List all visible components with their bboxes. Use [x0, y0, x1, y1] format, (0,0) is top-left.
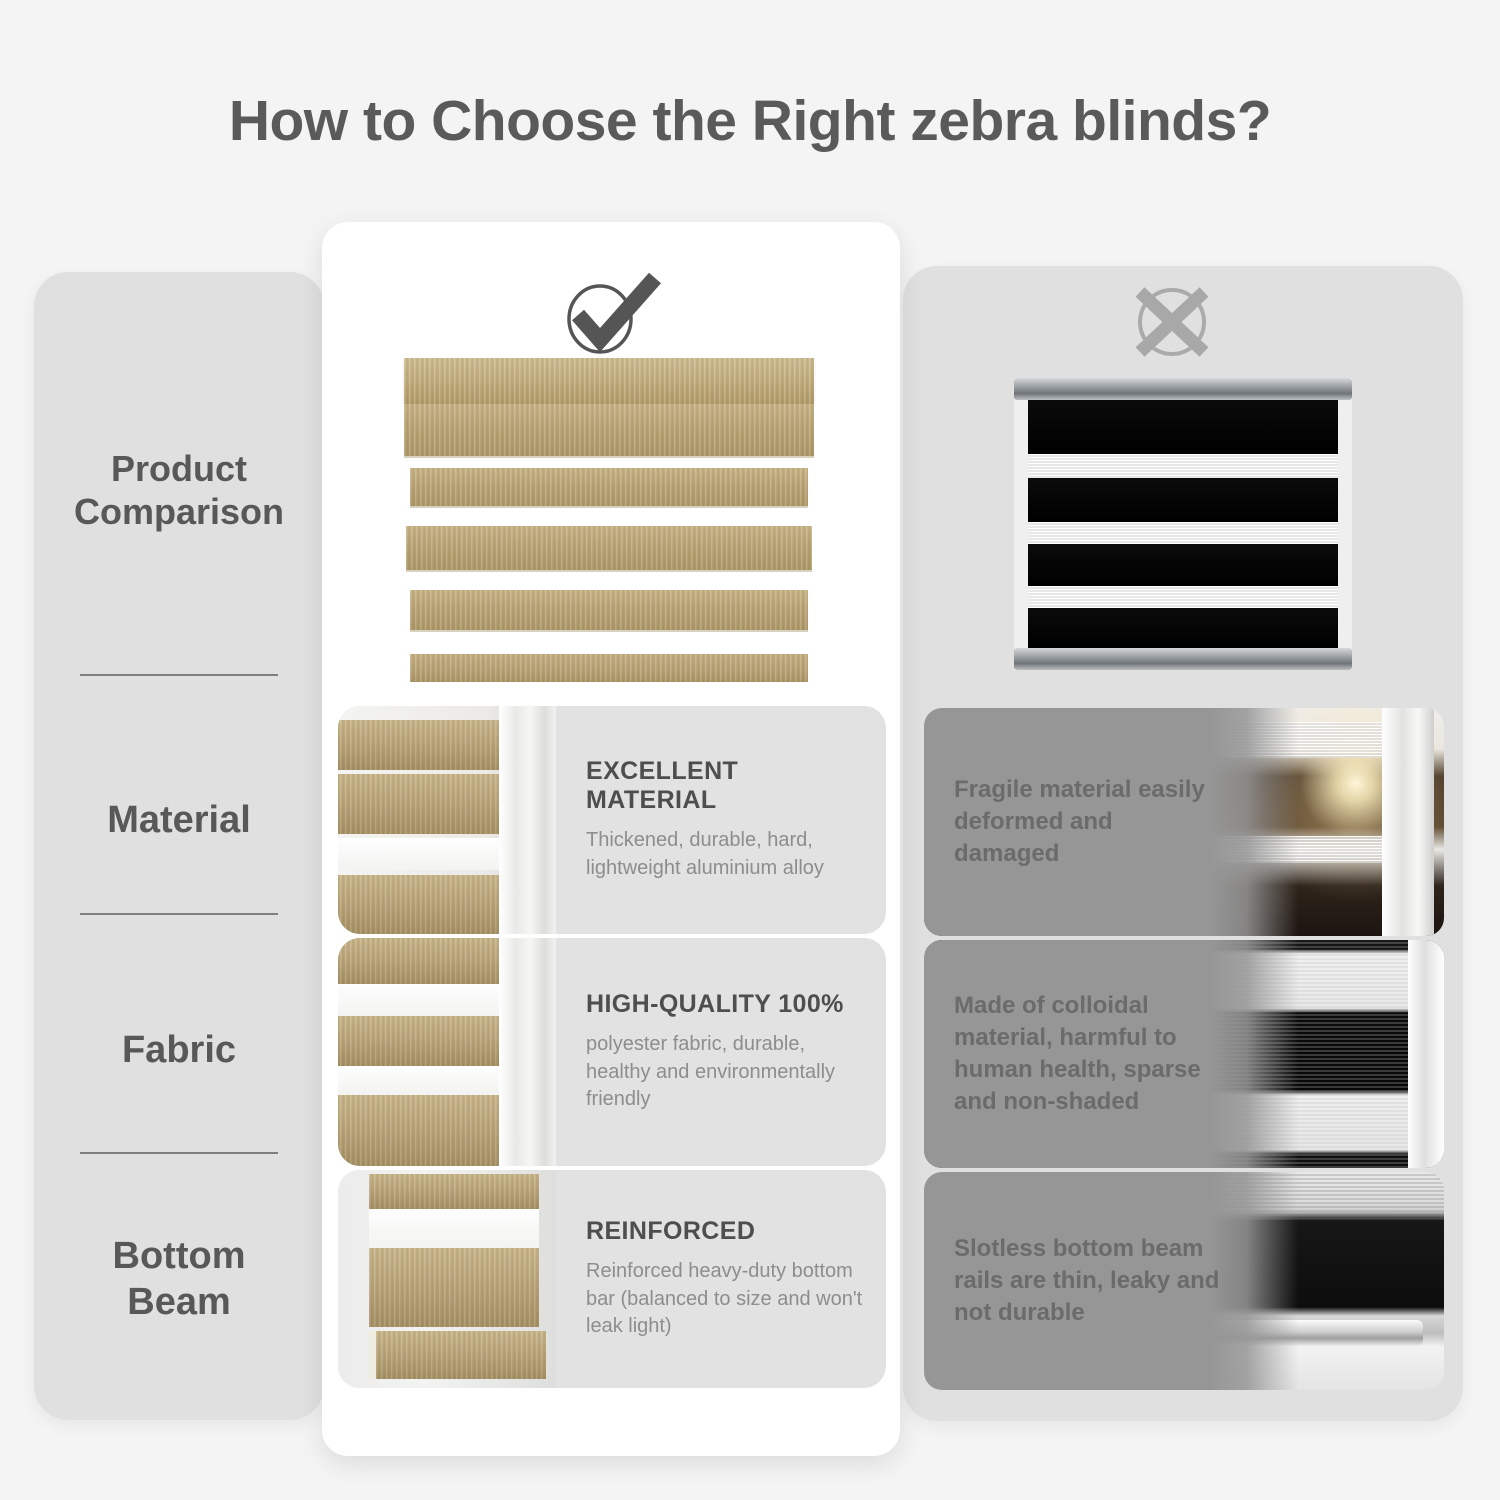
blind-slat — [338, 720, 508, 770]
feature-card-material-bad: Fragile material easily deformed and dam… — [924, 708, 1444, 936]
blind-headrail — [404, 358, 814, 404]
beige-zebra-blind-photo — [404, 358, 814, 698]
beige-fabric-closeup — [338, 938, 556, 1166]
blind-bottom-rail — [1014, 648, 1352, 670]
feature-text: Fragile material easily deformed and dam… — [954, 708, 1224, 936]
feature-text: Made of colloidal material, harmful to h… — [954, 940, 1224, 1168]
feature-body: Reinforced heavy-duty bottom bar (balanc… — [586, 1258, 864, 1341]
reinforced-bottom-bar-closeup — [338, 1170, 556, 1388]
feature-body: Thickened, durable, hard, lightweight al… — [586, 827, 864, 882]
row-label-line: Fabric — [34, 1028, 324, 1074]
feature-card-material-good: EXCELLENT MATERIAL Thickened, durable, h… — [338, 706, 886, 934]
feature-text-block: REINFORCED Reinforced heavy-duty bottom … — [556, 1170, 886, 1388]
window-scene — [338, 1170, 556, 1388]
blind-slat — [404, 404, 814, 458]
window-scene — [338, 706, 556, 934]
row-label-line: Bottom — [34, 1234, 324, 1280]
blind-slat — [410, 590, 808, 632]
blind-slat — [338, 1016, 508, 1066]
blind-slat — [338, 875, 508, 934]
blind-slat — [369, 1174, 539, 1209]
row-label-product-comparison: Product Comparison — [34, 447, 324, 533]
blind-dark-band — [1028, 544, 1339, 586]
window-scene — [338, 938, 556, 1166]
label-divider — [80, 1152, 278, 1154]
black-zebra-blind-photo — [1014, 378, 1352, 670]
blind-mesh-band — [1028, 586, 1339, 608]
feature-text-block: HIGH-QUALITY 100% polyester fabric, dura… — [556, 938, 886, 1166]
blind-dark-band — [1028, 608, 1339, 648]
check-circle-icon — [548, 268, 668, 356]
blind-headrail — [1014, 378, 1352, 400]
page-title: How to Choose the Right zebra blinds? — [0, 88, 1500, 154]
label-divider — [80, 913, 278, 915]
feature-title: HIGH-QUALITY 100% — [586, 990, 864, 1019]
row-label-line: Product — [34, 447, 324, 490]
feature-title: EXCELLENT MATERIAL — [586, 757, 864, 815]
blind-mesh-band — [338, 984, 508, 1016]
blind-slat — [369, 1248, 539, 1326]
blind-dark-band — [1028, 478, 1339, 522]
feature-text: Slotless bottom beam rails are thin, lea… — [954, 1172, 1224, 1390]
feature-card-fabric-good: HIGH-QUALITY 100% polyester fabric, dura… — [338, 938, 886, 1166]
blind-slat — [406, 526, 812, 572]
blind-slat — [338, 938, 508, 984]
blind-mesh-band — [338, 838, 508, 870]
blind-slat — [338, 774, 508, 833]
feature-text-block: EXCELLENT MATERIAL Thickened, durable, h… — [556, 706, 886, 934]
feature-body: polyester fabric, durable, healthy and e… — [586, 1031, 864, 1114]
blind-mesh-band — [1028, 454, 1339, 478]
window-frame — [499, 706, 556, 934]
blind-bottom-bar — [410, 654, 808, 682]
label-divider — [80, 674, 278, 676]
blind-mesh-band — [338, 1066, 508, 1096]
beige-blind-window-closeup — [338, 706, 556, 934]
blind-bottom-bar — [369, 1331, 546, 1379]
blind-slat — [338, 1095, 508, 1166]
blind-mesh-band — [1028, 522, 1339, 544]
row-label-material: Material — [34, 798, 324, 844]
row-label-bottom-beam: Bottom Beam — [34, 1234, 324, 1325]
feature-title: REINFORCED — [586, 1217, 864, 1246]
blind-slat — [410, 468, 808, 508]
feature-card-bottom-beam-bad: Slotless bottom beam rails are thin, lea… — [924, 1172, 1444, 1390]
feature-card-bottom-beam-good: REINFORCED Reinforced heavy-duty bottom … — [338, 1170, 886, 1388]
row-label-fabric: Fabric — [34, 1028, 324, 1074]
row-label-line: Material — [34, 798, 324, 844]
row-label-line: Comparison — [34, 490, 324, 533]
window-frame — [499, 938, 556, 1166]
cross-circle-icon — [1118, 278, 1226, 362]
feature-card-fabric-bad: Made of colloidal material, harmful to h… — [924, 940, 1444, 1168]
row-label-line: Beam — [34, 1280, 324, 1326]
blind-dark-band — [1028, 400, 1339, 454]
blind-mesh-band — [369, 1209, 539, 1248]
